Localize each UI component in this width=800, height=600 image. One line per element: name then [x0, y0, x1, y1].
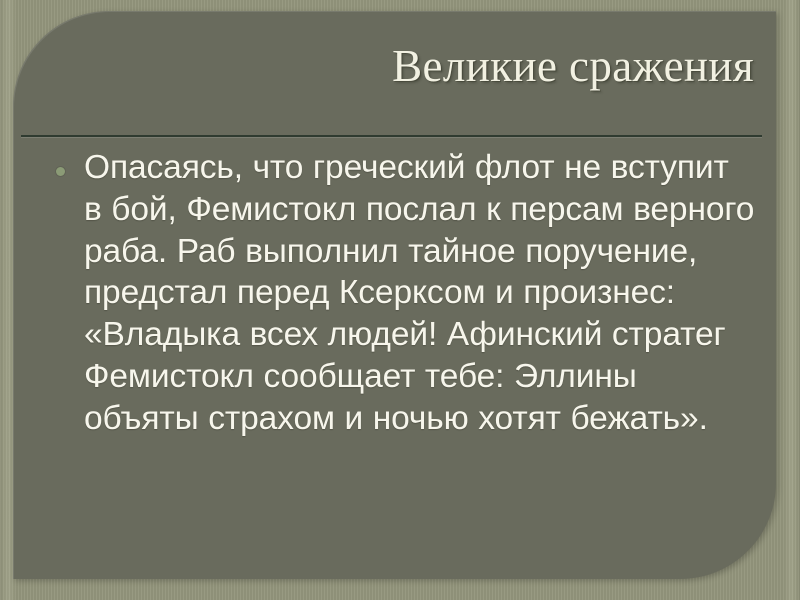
slide-canvas: Великие сражения Опасаясь, что греческий…: [0, 0, 800, 600]
slide-body-area: Опасаясь, что греческий флот не вступит …: [39, 147, 756, 569]
bullet-list: Опасаясь, что греческий флот не вступит …: [39, 147, 756, 440]
dot-bullet-icon: [56, 167, 65, 176]
page-title: Великие сражения: [392, 44, 754, 89]
bullet-item-text: Опасаясь, что греческий флот не вступит …: [84, 147, 756, 440]
list-item: Опасаясь, что греческий флот не вступит …: [39, 147, 756, 440]
slide-content-panel: Великие сражения Опасаясь, что греческий…: [13, 11, 776, 579]
title-divider: [21, 135, 762, 137]
slide-title-area: Великие сражения: [13, 55, 754, 119]
